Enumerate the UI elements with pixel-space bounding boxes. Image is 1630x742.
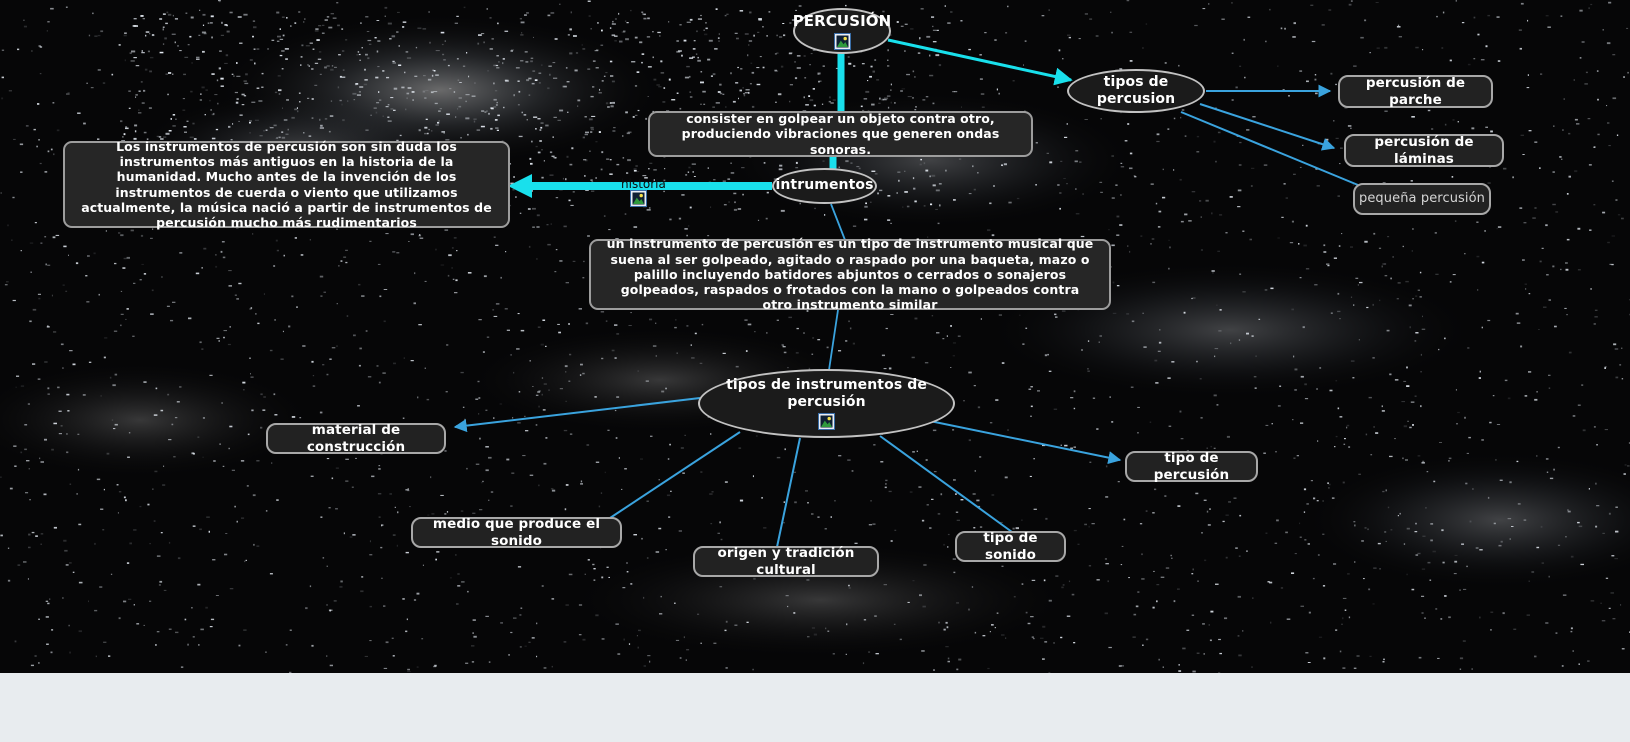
node-intrumentos[interactable]: intrumentos (772, 168, 877, 204)
node-definicion[interactable]: consister en golpear un objeto contra ot… (648, 111, 1033, 157)
link-tiposinst-to-tiposonido (880, 436, 1012, 532)
page-bottom-area (0, 673, 1630, 742)
node-percusion-de-laminas-label: percusión de láminas (1346, 134, 1502, 167)
node-tipos-de-instrumentos-label: tipos de instrumentos de percusión (700, 377, 953, 411)
link-tipos-to-pequena (1181, 112, 1358, 185)
node-intrumentos-label: intrumentos (775, 177, 873, 194)
node-historia-nota[interactable]: Los instrumentos de percusión son sin du… (63, 141, 510, 228)
link-tipos-to-laminas (1200, 104, 1334, 148)
node-tipo-de-sonido-label: tipo de sonido (957, 530, 1064, 563)
image-badge-icon[interactable] (834, 33, 851, 50)
node-origen-y-tradicion-cultural-label: origen y tradición cultural (695, 545, 877, 578)
node-definicion-label: consister en golpear un objeto contra ot… (662, 111, 1019, 157)
mindmap-app: PERCUSIÓN consister en golpear un objeto… (0, 0, 1630, 742)
node-tipo-de-percusion-label: tipo de percusión (1127, 450, 1256, 483)
node-pequena-percusion-label: pequeña percusión (1359, 191, 1485, 207)
node-medio-que-produce-el-sonido-label: medio que produce el sonido (413, 516, 620, 549)
node-percusion[interactable]: PERCUSIÓN (793, 8, 891, 54)
node-tipo-de-percusion[interactable]: tipo de percusión (1125, 451, 1258, 482)
link-nota-to-tipos-instrumentos (829, 310, 838, 370)
link-label-historia[interactable]: historia (621, 177, 666, 191)
link-tiposinst-to-origen (777, 438, 800, 547)
node-percusion-de-parche[interactable]: percusión de parche (1338, 75, 1493, 108)
node-percusion-de-laminas[interactable]: percusión de láminas (1344, 134, 1504, 167)
node-tipos-de-percusion[interactable]: tipos de percusion (1067, 69, 1205, 113)
link-tiposinst-to-tipopercusion (925, 420, 1120, 460)
link-arrowhead-historia (508, 174, 532, 198)
node-pequena-percusion[interactable]: pequeña percusión (1353, 183, 1491, 215)
node-tipo-de-sonido[interactable]: tipo de sonido (955, 531, 1066, 562)
link-intrumentos-to-nota (831, 204, 845, 240)
node-percusion-de-parche-label: percusión de parche (1340, 75, 1491, 108)
node-instrumento-nota-label: un instrumento de percusión es un tipo d… (605, 236, 1095, 312)
link-tiposinst-to-material (455, 398, 700, 427)
image-badge-icon[interactable] (630, 190, 647, 207)
node-material-de-construccion-label: material de construcción (268, 422, 444, 455)
node-origen-y-tradicion-cultural[interactable]: origen y tradición cultural (693, 546, 879, 577)
link-percusion-to-tipos (888, 40, 1071, 80)
link-tiposinst-to-medio (610, 432, 740, 518)
node-tipos-de-percusion-label: tipos de percusion (1069, 74, 1203, 108)
node-medio-que-produce-el-sonido[interactable]: medio que produce el sonido (411, 517, 622, 548)
node-material-de-construccion[interactable]: material de construcción (266, 423, 446, 454)
node-historia-nota-label: Los instrumentos de percusión son sin du… (78, 139, 495, 231)
node-tipos-de-instrumentos[interactable]: tipos de instrumentos de percusión (698, 369, 955, 438)
image-badge-icon[interactable] (818, 413, 835, 430)
node-instrumento-nota[interactable]: un instrumento de percusión es un tipo d… (589, 239, 1111, 310)
node-percusion-label: PERCUSIÓN (793, 12, 892, 30)
mindmap-canvas[interactable]: PERCUSIÓN consister en golpear un objeto… (0, 0, 1630, 673)
